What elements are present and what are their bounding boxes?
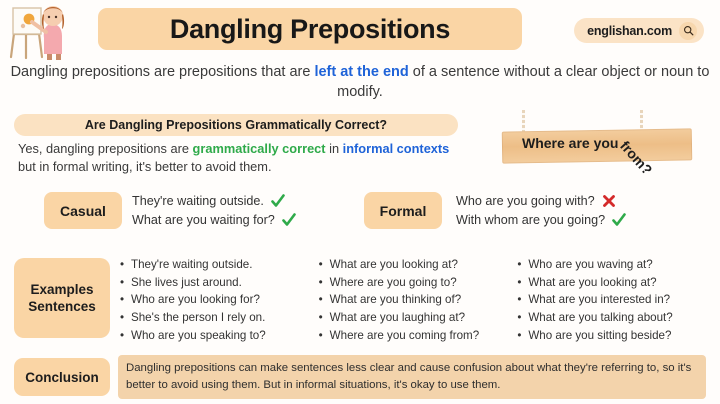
answer-blue-highlight: informal contexts — [343, 141, 450, 156]
hanging-sign: Where are you from? — [492, 110, 707, 188]
list-item: What are you interested in? — [528, 291, 714, 309]
examples-column-1: They're waiting outside. She lives just … — [118, 256, 317, 345]
list-item: Where are you coming from? — [330, 327, 516, 345]
list-item: Who are you waving at? — [528, 256, 714, 274]
infographic-page: Dangling Prepositions englishan.com Dang… — [0, 0, 720, 404]
check-icon — [611, 212, 627, 228]
site-logo-text: englishan.com — [587, 24, 672, 38]
girl-painting-easel-illustration — [6, 2, 84, 60]
formal-example-row: Who are you going with? — [456, 192, 627, 211]
formal-examples: Who are you going with? With whom are yo… — [456, 192, 627, 229]
casual-example-text: What are you waiting for? — [132, 211, 275, 230]
examples-label-line1: Examples — [30, 282, 93, 297]
casual-examples: They're waiting outside. What are you wa… — [132, 192, 297, 229]
site-logo[interactable]: englishan.com — [574, 18, 704, 43]
list-item: What are you talking about? — [528, 309, 714, 327]
list-item: She lives just around. — [131, 274, 317, 292]
cross-icon — [601, 193, 617, 209]
casual-label-box: Casual — [44, 192, 122, 229]
question-banner: Are Dangling Prepositions Grammatically … — [14, 114, 458, 136]
sign-text-main: Where are you — [522, 135, 622, 151]
question-banner-text: Are Dangling Prepositions Grammatically … — [85, 118, 387, 132]
list-item: Who are you sitting beside? — [528, 327, 714, 345]
list-item: What are you laughing at? — [330, 309, 516, 327]
list-item: She's the person I rely on. — [131, 309, 317, 327]
list-item: What are you looking at? — [528, 274, 714, 292]
conclusion-label: Conclusion — [25, 370, 99, 385]
examples-column-2: What are you looking at? Where are you g… — [317, 256, 516, 345]
examples-column-3: Who are you waving at? What are you look… — [515, 256, 714, 345]
conclusion-label-box: Conclusion — [14, 358, 110, 396]
formal-label: Formal — [380, 203, 427, 219]
list-item: Where are you going to? — [330, 274, 516, 292]
examples-label-line2: Sentences — [28, 299, 96, 314]
list-item: What are you thinking of? — [330, 291, 516, 309]
answer-part3: but in formal writing, it's better to av… — [18, 159, 272, 174]
formal-example-row: With whom are you going? — [456, 211, 627, 230]
intro-text-part1: Dangling prepositions are prepositions t… — [11, 64, 315, 80]
check-icon — [270, 193, 286, 209]
formal-example-text: Who are you going with? — [456, 192, 595, 211]
list-item: What are you looking at? — [330, 256, 516, 274]
check-icon — [281, 212, 297, 228]
page-title: Dangling Prepositions — [98, 8, 522, 50]
formal-label-box: Formal — [364, 192, 442, 229]
list-item: They're waiting outside. — [131, 256, 317, 274]
list-item: Who are you looking for? — [131, 291, 317, 309]
intro-highlight: left at the end — [314, 64, 408, 80]
page-title-text: Dangling Prepositions — [170, 14, 450, 45]
intro-paragraph: Dangling prepositions are prepositions t… — [10, 62, 710, 102]
answer-green-highlight: grammatically correct — [193, 141, 326, 156]
casual-example-row: They're waiting outside. — [132, 192, 297, 211]
search-icon[interactable] — [679, 22, 697, 40]
list-item: Who are you speaking to? — [131, 327, 317, 345]
casual-example-text: They're waiting outside. — [132, 192, 264, 211]
formal-example-text: With whom are you going? — [456, 211, 605, 230]
examples-columns: They're waiting outside. She lives just … — [118, 256, 714, 345]
sign-rope-left — [522, 110, 525, 132]
question-answer: Yes, dangling prepositions are grammatic… — [18, 140, 468, 176]
answer-part1: Yes, dangling prepositions are — [18, 141, 193, 156]
examples-label-box: Examples Sentences — [14, 258, 110, 338]
casual-example-row: What are you waiting for? — [132, 211, 297, 230]
answer-part2: in — [326, 141, 343, 156]
casual-label: Casual — [60, 203, 106, 219]
header: Dangling Prepositions englishan.com — [0, 0, 720, 60]
conclusion-text: Dangling prepositions can make sentences… — [118, 355, 706, 399]
sign-text: Where are you from? — [522, 135, 663, 151]
